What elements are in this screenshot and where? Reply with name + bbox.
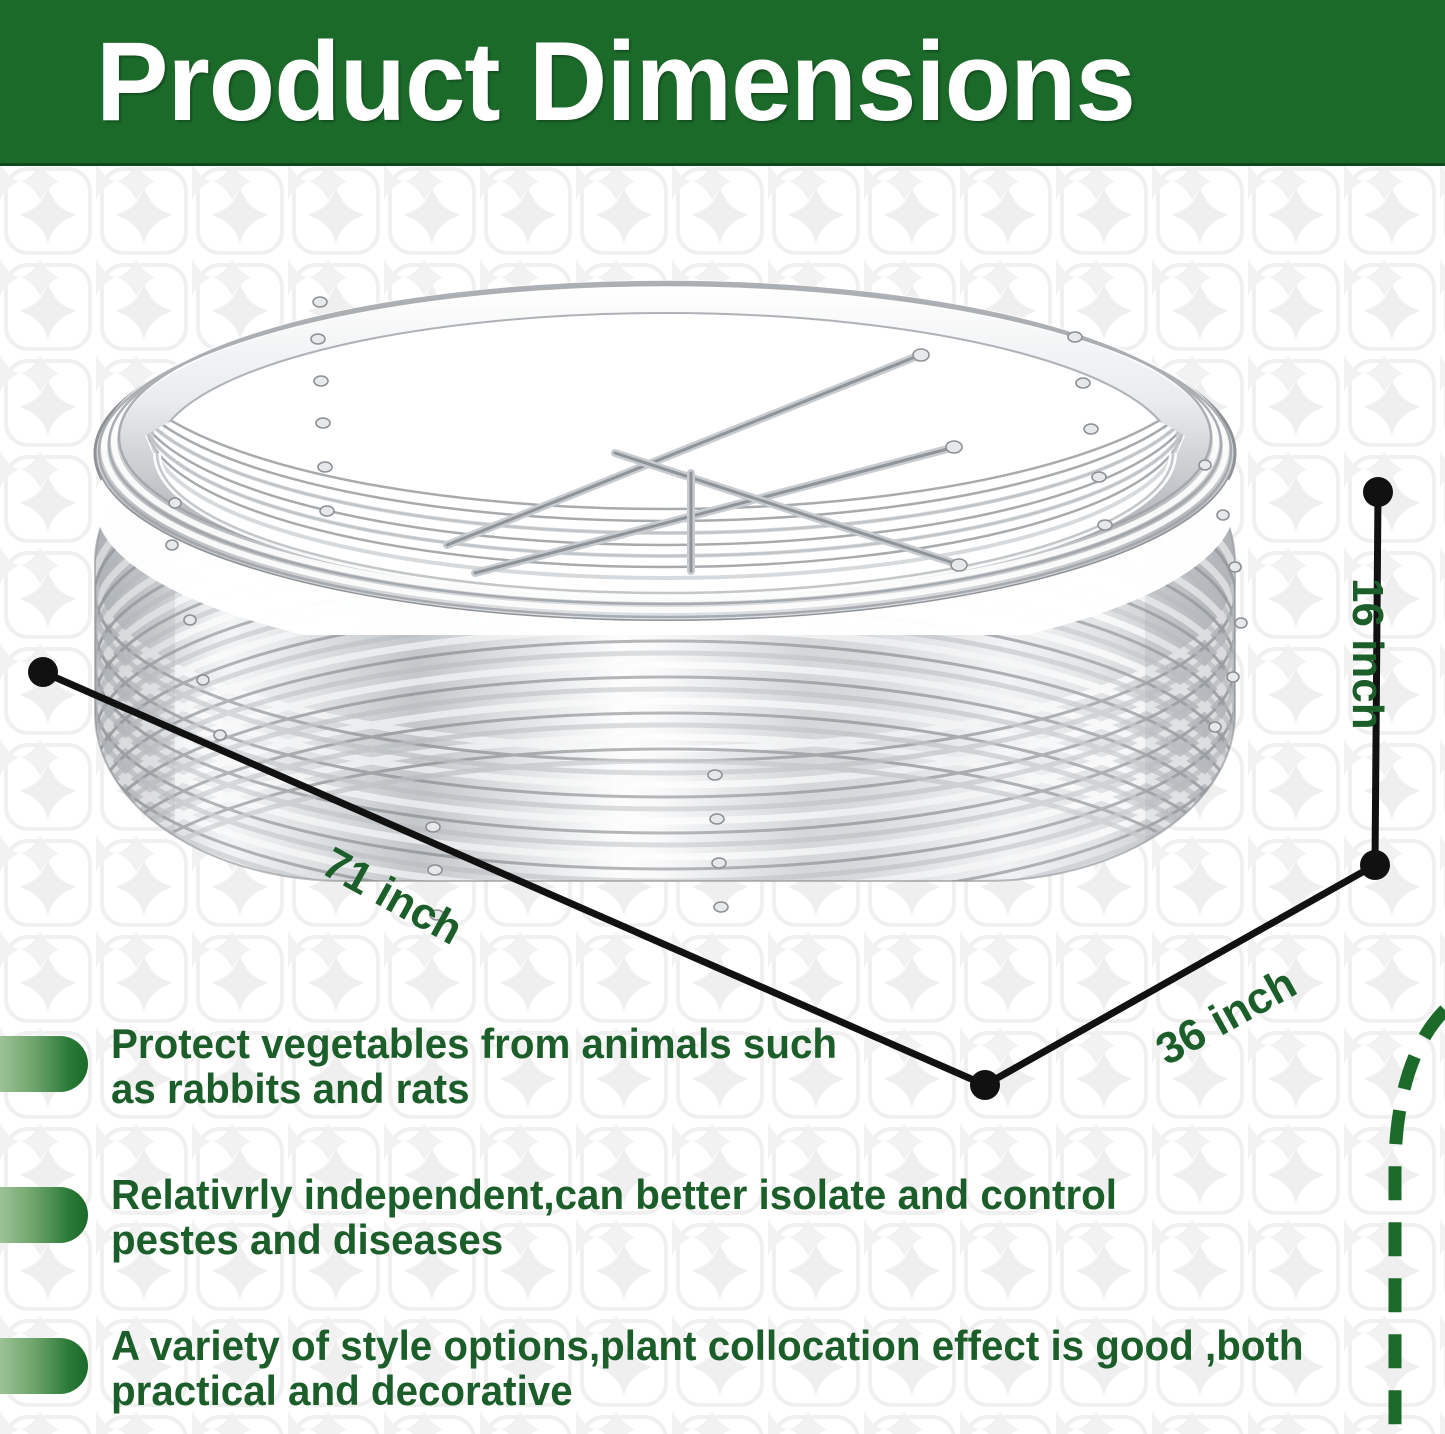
- page-title: Product Dimensions: [96, 26, 1135, 138]
- product-illustration-oval-raised-garden-bed: [55, 215, 1365, 1005]
- feature-line-2: practical and decorative: [111, 1369, 1304, 1414]
- feature-list: Protect vegetables from animals such as …: [0, 1022, 1445, 1434]
- feature-line-2: pestes and diseases: [111, 1218, 1117, 1263]
- feature-text: Protect vegetables from animals such as …: [111, 1022, 837, 1111]
- list-item: Protect vegetables from animals such as …: [0, 1022, 1445, 1111]
- feature-text: Relativrly independent,can better isolat…: [111, 1173, 1117, 1262]
- header-banner: Product Dimensions: [0, 0, 1445, 166]
- list-item: A variety of style options,plant colloca…: [0, 1324, 1445, 1413]
- feature-line-1: A variety of style options,plant colloca…: [111, 1322, 1304, 1369]
- list-item: Relativrly independent,can better isolat…: [0, 1173, 1445, 1262]
- feature-text: A variety of style options,plant colloca…: [111, 1324, 1304, 1413]
- bullet-pill-icon: [0, 1187, 88, 1243]
- feature-line-1: Protect vegetables from animals such: [111, 1020, 837, 1067]
- feature-line-2: as rabbits and rats: [111, 1067, 837, 1112]
- product-dimensions-infographic: Product Dimensions: [0, 0, 1445, 1434]
- feature-line-1: Relativrly independent,can better isolat…: [111, 1171, 1117, 1218]
- bullet-pill-icon: [0, 1338, 88, 1394]
- bullet-pill-icon: [0, 1036, 88, 1092]
- height-dimension-label: 16 inch: [1342, 578, 1392, 730]
- bed-top-rim: [95, 215, 1235, 635]
